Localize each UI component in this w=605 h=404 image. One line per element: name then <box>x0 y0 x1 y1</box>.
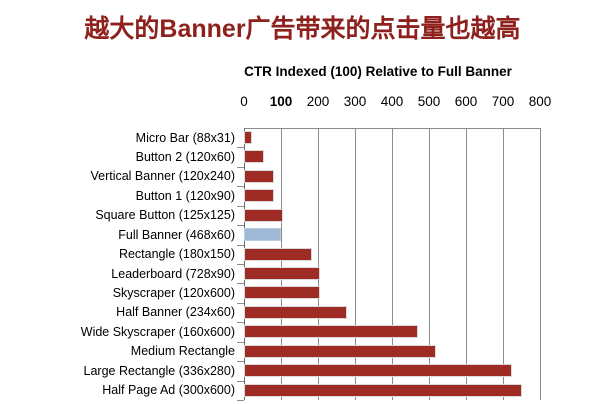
category-label-rectangle-180x150: Rectangle (180x150) <box>0 247 235 261</box>
bar-half-page-ad-300x600[interactable] <box>244 384 522 397</box>
bar-wide-skyscraper-160x600[interactable] <box>244 325 418 338</box>
category-label-wide-skyscraper-160x600: Wide Skyscraper (160x600) <box>0 325 235 339</box>
category-tick <box>237 167 244 168</box>
category-tick <box>237 400 244 401</box>
category-tick <box>237 147 244 148</box>
bar-skyscraper-120x600[interactable] <box>244 286 320 299</box>
category-label-large-rectangle-336x280: Large Rectangle (336x280) <box>0 364 235 378</box>
category-tick <box>237 322 244 323</box>
category-label-button-2-120x60: Button 2 (120x60) <box>0 150 235 164</box>
category-label-medium-rectangle: Medium Rectangle <box>0 344 235 358</box>
bar-button-2-120x60[interactable] <box>244 150 264 163</box>
bar-row <box>244 245 540 264</box>
x-tick-label-0: 0 <box>224 94 264 109</box>
category-label-square-button-125x125: Square Button (125x125) <box>0 208 235 222</box>
bar-row <box>244 342 540 361</box>
category-tick <box>237 206 244 207</box>
category-tick <box>237 245 244 246</box>
category-tick <box>237 381 244 382</box>
axis-title: CTR Indexed (100) Relative to Full Banne… <box>168 64 588 79</box>
bar-button-1-120x90[interactable] <box>244 189 274 202</box>
bar-row <box>244 128 540 147</box>
bar-row <box>244 186 540 205</box>
bar-row <box>244 381 540 400</box>
x-tick-label-200: 200 <box>298 94 338 109</box>
page-title: 越大的Banner广告带来的点击量也越高 <box>0 14 605 44</box>
bar-leaderboard-728x90[interactable] <box>244 267 320 280</box>
category-label-full-banner-468x60: Full Banner (468x60) <box>0 228 235 242</box>
bar-square-button-125x125[interactable] <box>244 209 283 222</box>
bar-large-rectangle-336x280[interactable] <box>244 364 512 377</box>
gridline-800 <box>540 128 541 400</box>
bar-micro-bar-88x31[interactable] <box>244 131 252 144</box>
bar-row <box>244 206 540 225</box>
category-label-skyscraper-120x600: Skyscraper (120x600) <box>0 286 235 300</box>
category-tick <box>237 342 244 343</box>
x-tick-label-300: 300 <box>335 94 375 109</box>
bar-row <box>244 167 540 186</box>
x-tick-label-600: 600 <box>446 94 486 109</box>
bar-row <box>244 322 540 341</box>
category-tick <box>237 186 244 187</box>
bar-medium-rectangle[interactable] <box>244 345 436 358</box>
x-tick-label-100: 100 <box>261 94 301 109</box>
bar-full-banner-468x60[interactable] <box>244 228 281 241</box>
category-tick <box>237 361 244 362</box>
category-tick <box>237 283 244 284</box>
category-label-half-banner-234x60: Half Banner (234x60) <box>0 305 235 319</box>
x-tick-label-800: 800 <box>520 94 560 109</box>
category-label-half-page-ad-300x600: Half Page Ad (300x600) <box>0 383 235 397</box>
category-label-micro-bar-88x31: Micro Bar (88x31) <box>0 131 235 145</box>
bar-vertical-banner-120x240[interactable] <box>244 170 274 183</box>
x-tick-label-400: 400 <box>372 94 412 109</box>
category-label-button-1-120x90: Button 1 (120x90) <box>0 189 235 203</box>
bar-row <box>244 147 540 166</box>
category-tick <box>237 225 244 226</box>
bar-row <box>244 361 540 380</box>
bar-row <box>244 303 540 322</box>
plot-area <box>244 128 540 400</box>
category-label-leaderboard-728x90: Leaderboard (728x90) <box>0 267 235 281</box>
x-tick-label-700: 700 <box>483 94 523 109</box>
bar-row <box>244 283 540 302</box>
bar-half-banner-234x60[interactable] <box>244 306 347 319</box>
chart-screenshot: 越大的Banner广告带来的点击量也越高 CTR Indexed (100) R… <box>0 0 605 404</box>
category-tick <box>237 303 244 304</box>
bar-row <box>244 264 540 283</box>
category-label-vertical-banner-120x240: Vertical Banner (120x240) <box>0 169 235 183</box>
x-tick-label-500: 500 <box>409 94 449 109</box>
category-tick <box>237 264 244 265</box>
bar-row <box>244 225 540 244</box>
bar-rectangle-180x150[interactable] <box>244 248 312 261</box>
